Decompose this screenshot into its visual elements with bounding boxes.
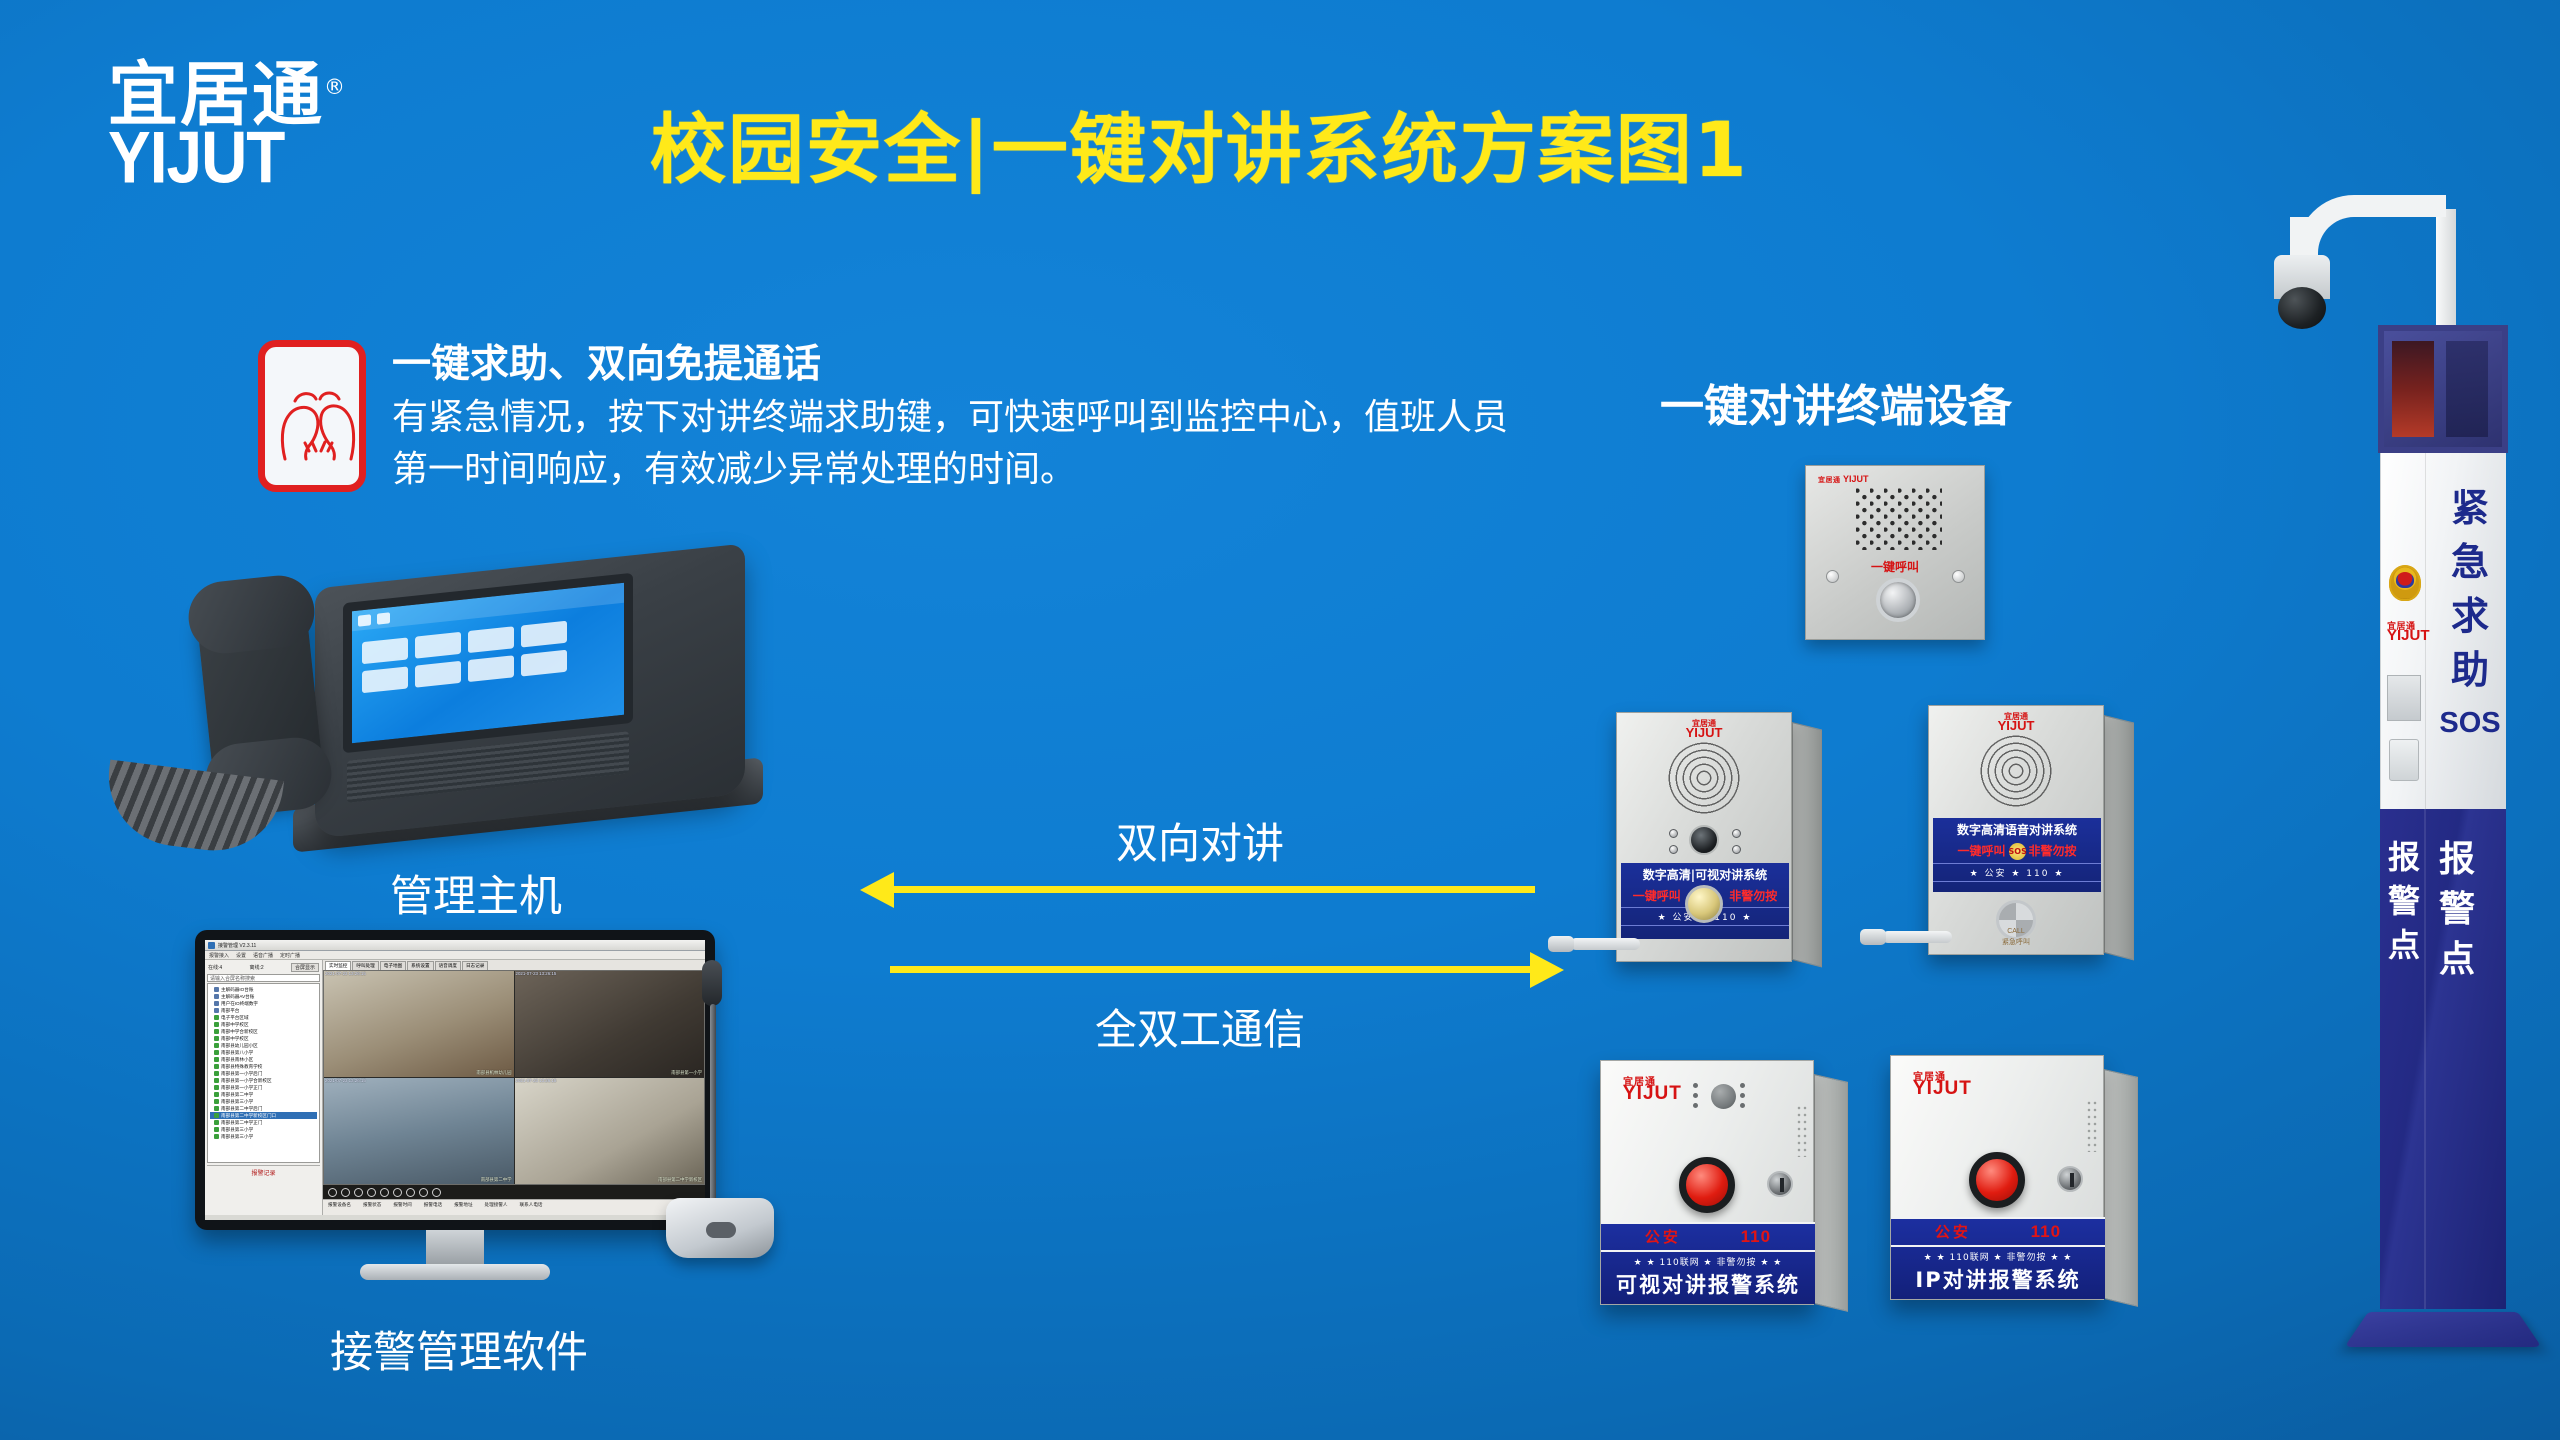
close-icon[interactable] <box>432 1188 441 1197</box>
device-tree[interactable]: 主解码器IO台账 主解码器AV台账 用户在IO终端数字 南部平台 电子平台区域 … <box>207 983 320 1163</box>
unit-system-name: 数字高清|可视对讲系统 <box>1621 863 1789 885</box>
microphone-talk-button[interactable] <box>706 1222 736 1238</box>
panel-brand: 宜居通 YIJUT <box>1818 475 1869 485</box>
section-title-terminals: 一键对讲终端设备 <box>1660 370 2012 434</box>
tree-node: 南部县第一小学正门 <box>221 1084 262 1091</box>
tab-live-monitor[interactable]: 实时监控 <box>325 961 351 970</box>
tree-node: 南部县第三小学 <box>221 1098 253 1105</box>
call-en-label: CALL <box>1929 928 2103 935</box>
box-star-line: ★ ★ 110联网 ★ 非警勿按 ★ ★ <box>1601 1252 1815 1269</box>
unit-side <box>1792 722 1822 967</box>
alarm-management-software-monitor: 接警管理 V2.3.11 报警接入 设置 语音广播 定时广播 在线:4 离线:2… <box>195 930 715 1290</box>
ir-led-icon <box>1669 829 1678 838</box>
tab-call-handling[interactable]: 呼叫处理 <box>352 961 378 970</box>
speaker-grill-icon <box>1856 488 1942 550</box>
col-time: 报警时间 <box>393 1202 411 1213</box>
management-host-label: 管理主机 <box>390 862 562 924</box>
microphone-base <box>666 1198 774 1258</box>
video-timestamp: 2021-07-23 13:26:15 <box>325 1078 366 1083</box>
emergency-alarm-button[interactable] <box>1969 1152 2025 1208</box>
tree-node: 电子平台区域 <box>221 1014 249 1021</box>
tree-node: 南部县第二中学 <box>221 1091 253 1098</box>
one-key-call-button[interactable] <box>1685 885 1723 923</box>
ip-intercom-alarm-box: 宜居通 YIJUT 公安 110 ★ ★ 110联网 ★ 非警勿按 ★ ★ IP… <box>1890 1055 2140 1300</box>
status-online: 在线:4 <box>208 964 222 971</box>
pole-upper-body: 宜居通 YIJUT 紧急求助 SOS <box>2380 453 2506 811</box>
software-label: 接警管理软件 <box>330 1318 588 1380</box>
tree-node: 南部县第三小学 <box>221 1126 253 1133</box>
screw-icon <box>1952 570 1965 583</box>
tab-voice-dispatch[interactable]: 语音调度 <box>435 961 461 970</box>
power-cable <box>1882 931 1952 943</box>
microphone-head <box>702 960 722 1006</box>
unit-face: 宜居通 YIJUT 数字高清语音对讲系统 一键呼叫SOS非警勿按 ★ 公安 ★ … <box>1928 705 2104 955</box>
unit-blue-panel: 数字高清语音对讲系统 一键呼叫SOS非警勿按 ★ 公安 ★ 110 ★ <box>1933 818 2101 892</box>
tree-node: 南部中学校区 <box>221 1021 249 1028</box>
playback-control-icon[interactable] <box>328 1188 337 1197</box>
page-title: 校园安全|一键对讲系统方案图1 <box>650 88 1749 198</box>
tree-node: 用户在IO终端数字 <box>221 1000 258 1007</box>
menu-item-0[interactable]: 报警接入 <box>209 952 229 959</box>
one-key-call-button[interactable] <box>1876 578 1920 622</box>
phone-touchscreen[interactable] <box>343 573 633 753</box>
col-status: 报警状态 <box>363 1202 381 1213</box>
key-lock-icon[interactable] <box>2057 1166 2083 1192</box>
call-cn-label: 紧急呼叫 <box>1929 937 2103 947</box>
tree-node: 南部县幼儿园小区 <box>221 1042 258 1049</box>
tree-node: 南部中学校区 <box>221 1035 249 1042</box>
pole-lower-body: 报警点 报警点 <box>2380 809 2506 1309</box>
unit-brand: 宜居通 YIJUT <box>1686 719 1723 737</box>
video-intercom-alarm-box: 宜居通 YIJUT 公安 110 ★ ★ 110联网 ★ 非警勿按 ★ ★ 可视… <box>1600 1060 1850 1305</box>
registered-trademark-icon: ® <box>324 75 347 99</box>
brand-logo-en: YIJUT <box>108 125 408 189</box>
pole-speaker-plate <box>2387 675 2421 721</box>
camera-lens-icon <box>1689 825 1719 855</box>
video-wall[interactable]: 2021-07-23 13:26:15 南部县机林幼儿园 2021-07-23 … <box>323 970 705 1185</box>
box-blue-panel: 公安 110 ★ ★ 110联网 ★ 非警勿按 ★ ★ IP对讲报警系统 <box>1891 1217 2105 1299</box>
box-face: 宜居通 YIJUT 公安 110 ★ ★ 110联网 ★ 非警勿按 ★ ★ 可视… <box>1600 1060 1814 1305</box>
volume-icon[interactable] <box>419 1188 428 1197</box>
monitor-stand <box>360 1264 550 1280</box>
arrow-label-two-way: 双向对讲 <box>850 810 1550 871</box>
pole-sos-text: SOS <box>2439 707 2501 740</box>
unit-side <box>2104 715 2134 960</box>
status-offline: 离线:2 <box>249 964 263 971</box>
vent-holes <box>2086 1100 2098 1152</box>
video-cell[interactable]: 2021-07-23 13:26:15 南部县第二中学 <box>324 1078 514 1184</box>
voice-intercom-wall-unit: 宜居通 YIJUT 数字高清语音对讲系统 一键呼叫SOS非警勿按 ★ 公安 ★ … <box>1928 705 2136 955</box>
communication-arrows: 双向对讲 全双工通信 <box>850 800 1550 1080</box>
col-device: 报警设备名 <box>328 1202 351 1213</box>
unit-call-line: 一键呼叫SOS非警勿按 <box>1933 840 2101 863</box>
tree-node: 南部平台 <box>221 1007 239 1014</box>
pole-alarm-point-a: 报警点 <box>2384 835 2424 967</box>
software-sidebar: 在线:4 离线:2 合屏显示 请输入合屏名称搜索 主解码器IO台账 主解码器AV… <box>205 960 323 1215</box>
tree-search-input[interactable]: 请输入合屏名称搜索 <box>207 974 320 982</box>
ir-led-icon <box>1732 829 1741 838</box>
col-contact: 联系人电话 <box>520 1202 543 1213</box>
tree-node: 南部县第一小学后门 <box>221 1070 262 1077</box>
software-menubar[interactable]: 报警接入 设置 语音广播 定时广播 <box>205 951 705 960</box>
sos-badge: SOS <box>2009 843 2026 860</box>
pole-brand: 宜居通 YIJUT <box>2387 621 2430 641</box>
power-cable <box>1570 938 1640 950</box>
snapshot-icon[interactable] <box>367 1188 376 1197</box>
tree-node: 南部中学合新校区 <box>221 1028 258 1035</box>
menu-item-2[interactable]: 语音广播 <box>253 952 273 959</box>
tree-node: 南部县第二中学正门 <box>221 1119 262 1126</box>
col-phone: 报警电话 <box>424 1202 442 1213</box>
pole-alarm-point-b: 报警点 <box>2432 835 2482 985</box>
pole-emergency-text: 紧急求助 <box>2439 481 2501 697</box>
fullscreen-icon[interactable] <box>380 1188 389 1197</box>
box-blue-panel: 公安 110 ★ ★ 110联网 ★ 非警勿按 ★ ★ 可视对讲报警系统 <box>1601 1222 1815 1304</box>
tree-node-selected: 南部县第二中学新校区门口 <box>221 1112 276 1119</box>
feature-block: 一键求助、双向免提通话 有紧急情况，按下对讲终端求助键，可快速呼叫到监控中心，值… <box>258 340 1517 496</box>
box-brand: 宜居通 YIJUT <box>1623 1077 1682 1099</box>
police-number: 110 <box>1741 1227 1771 1247</box>
video-control-bar[interactable] <box>323 1185 705 1199</box>
video-caption: 南部县机林幼儿园 <box>476 1070 511 1076</box>
box-side <box>2104 1069 2138 1307</box>
alarm-log-label: 报警记录 <box>207 1165 320 1177</box>
management-host-phone <box>165 560 785 860</box>
arrow-head-left-icon <box>860 872 894 908</box>
unit-system-name: 数字高清语音对讲系统 <box>1933 818 2101 840</box>
monitor-neck <box>426 1230 484 1264</box>
box-side <box>1814 1074 1848 1312</box>
tab-emap[interactable]: 电子地图 <box>380 961 406 970</box>
box-face: 宜居通 YIJUT 公安 110 ★ ★ 110联网 ★ 非警勿按 ★ ★ IP… <box>1890 1055 2104 1300</box>
tree-node: 南部县第一小学合新校区 <box>221 1077 272 1084</box>
mic-icon[interactable] <box>406 1188 415 1197</box>
tree-node: 南部县特殊教育学校 <box>221 1063 262 1070</box>
police-label: 公安 <box>1935 1221 1971 1242</box>
software-title: 接警管理 V2.3.11 <box>218 942 256 949</box>
video-timestamp: 2021-07-23 13:26:15 <box>325 971 366 976</box>
camera-dome-icon <box>2278 287 2326 329</box>
tab-settings[interactable]: 系统设置 <box>407 961 433 970</box>
menu-item-3[interactable]: 定时广播 <box>280 952 300 959</box>
stop-icon[interactable] <box>341 1188 350 1197</box>
tab-logs[interactable]: 日志记录 <box>462 961 488 970</box>
unit-face: 宜居通 YIJUT 数字高清|可视对讲系统 一键呼叫 非警勿按 ★ 公安 ★ 1… <box>1616 712 1792 962</box>
unit-police-line: ★ 公安 ★ 110 ★ <box>1933 863 2101 882</box>
ir-led-icon <box>1669 845 1678 854</box>
box-system-name: IP对讲报警系统 <box>1891 1264 2105 1294</box>
feature-description: 有紧急情况，按下对讲终端求助键，可快速呼叫到监控中心，值班人员第一时间响应，有效… <box>392 392 1517 496</box>
police-emblem <box>2389 565 2421 601</box>
emergency-help-pole: 宜居通 YIJUT 紧急求助 SOS 报警点 报警点 <box>2230 195 2500 1405</box>
video-timestamp: 2021-07-23 13:26:15 <box>516 1078 557 1083</box>
refresh-icon[interactable] <box>393 1188 402 1197</box>
speaker-grill-icon <box>1960 732 2072 810</box>
col-handler: 处理接警人 <box>485 1202 508 1213</box>
box-star-line: ★ ★ 110联网 ★ 非警勿按 ★ ★ <box>1891 1247 2105 1264</box>
screw-icon <box>1826 570 1839 583</box>
tree-node: 南部县第三小学 <box>221 1133 253 1140</box>
box-brand: 宜居通 YIJUT <box>1913 1072 1972 1094</box>
pole-base-plate <box>2344 1312 2541 1347</box>
police-number: 110 <box>2031 1222 2061 1242</box>
unit-brand: 宜居通 YIJUT <box>1998 712 2035 730</box>
feature-title: 一键求助、双向免提通话 <box>392 342 1517 388</box>
gooseneck-microphone <box>660 960 790 1300</box>
video-caption: 南部县第二中学 <box>481 1177 512 1183</box>
tree-node: 南部县南林小区 <box>221 1056 253 1063</box>
box-system-name: 可视对讲报警系统 <box>1601 1269 1815 1299</box>
app-icon <box>208 942 215 949</box>
camera-lens-icon <box>1711 1084 1736 1109</box>
vent-holes <box>1796 1105 1808 1157</box>
pole-keypad[interactable] <box>2389 739 2419 781</box>
ir-led-icon <box>1732 845 1741 854</box>
menu-item-1[interactable]: 设置 <box>236 952 246 959</box>
speaker-grill-icon <box>1648 739 1760 817</box>
tree-node: 南部县第二中学后门 <box>221 1105 262 1112</box>
tree-node: 主解码器IO台账 <box>221 986 253 993</box>
flush-mount-intercom-panel: 宜居通 YIJUT 一键呼叫 <box>1805 465 1985 640</box>
tree-node: 南部县第八小学 <box>221 1049 253 1056</box>
software-screen[interactable]: 接警管理 V2.3.11 报警接入 设置 语音广播 定时广播 在线:4 离线:2… <box>205 940 705 1220</box>
tree-node: 主解码器AV台账 <box>221 993 254 1000</box>
emergency-alarm-button[interactable] <box>1679 1157 1735 1213</box>
microphone-gooseneck <box>710 1004 716 1204</box>
video-cell[interactable]: 2021-07-23 13:26:15 南部县机林幼儿园 <box>324 971 514 1077</box>
col-address: 报警地址 <box>454 1202 472 1213</box>
video-intercom-wall-unit: 宜居通 YIJUT 数字高清|可视对讲系统 一键呼叫 非警勿按 ★ 公安 ★ 1… <box>1616 712 1824 962</box>
camera-and-leds <box>1693 1083 1745 1111</box>
record-icon[interactable] <box>354 1188 363 1197</box>
brand-logo: 宜居通® YIJUT <box>108 52 408 182</box>
arrow-line-left <box>890 886 1535 893</box>
alarm-table-header: 报警设备名 报警状态 报警时间 报警电话 报警地址 处理接警人 联系人电话 <box>323 1199 705 1215</box>
police-label: 公安 <box>1645 1226 1681 1247</box>
video-timestamp: 2021-07-23 13:26:15 <box>516 971 557 976</box>
alarm-beacon-lamp <box>2378 325 2508 453</box>
software-tabs[interactable]: 实时监控 呼叫处理 电子地图 系统设置 语音调度 日志记录 <box>323 960 705 970</box>
key-lock-icon[interactable] <box>1767 1171 1793 1197</box>
arrow-label-full-duplex: 全双工通信 <box>850 996 1550 1057</box>
two-people-talking-icon <box>258 340 366 492</box>
group-display-button[interactable]: 合屏显示 <box>291 963 319 972</box>
arrow-head-right-icon <box>1530 952 1564 988</box>
software-titlebar: 接警管理 V2.3.11 <box>205 940 705 951</box>
arrow-line-right <box>890 966 1535 973</box>
